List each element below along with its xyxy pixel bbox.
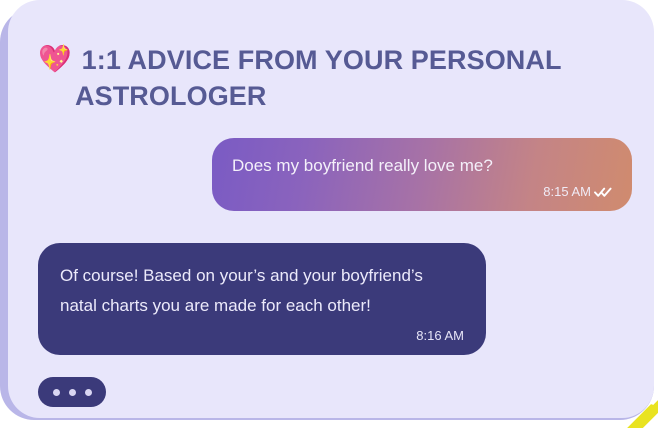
page-title: 1:1 ADVICE FROM YOUR PERSONAL xyxy=(82,42,562,78)
message-bubble-incoming[interactable]: Of course! Based on your’s and your boyf… xyxy=(38,243,486,355)
typing-dot-2 xyxy=(69,389,76,396)
message-bubble-outgoing[interactable]: Does my boyfriend really love me? 8:15 A… xyxy=(212,138,632,211)
chat-thread: Does my boyfriend really love me? 8:15 A… xyxy=(38,138,632,407)
message-row-outgoing: Does my boyfriend really love me? 8:15 A… xyxy=(38,138,632,211)
message-meta: 8:15 AM xyxy=(232,183,612,201)
typing-dot-1 xyxy=(53,389,60,396)
message-timestamp: 8:16 AM xyxy=(416,327,464,345)
double-check-icon xyxy=(594,186,612,198)
title-line-primary: 💖 1:1 ADVICE FROM YOUR PERSONAL xyxy=(38,42,614,78)
page-title-second-line: ASTROLOGER xyxy=(75,78,614,114)
typing-indicator xyxy=(38,377,106,407)
message-timestamp: 8:15 AM xyxy=(543,183,591,201)
chat-promo-card: 💖 1:1 ADVICE FROM YOUR PERSONAL ASTROLOG… xyxy=(8,0,654,418)
card-header: 💖 1:1 ADVICE FROM YOUR PERSONAL ASTROLOG… xyxy=(38,42,614,114)
typing-dot-3 xyxy=(85,389,92,396)
typing-indicator-row xyxy=(38,377,632,407)
sparkling-heart-icon: 💖 xyxy=(38,42,72,76)
message-text: Does my boyfriend really love me? xyxy=(232,154,612,177)
message-meta: 8:16 AM xyxy=(60,327,464,345)
screenshot-stage: 💖 1:1 ADVICE FROM YOUR PERSONAL ASTROLOG… xyxy=(0,0,660,428)
message-text: Of course! Based on your’s and your boyf… xyxy=(60,261,464,321)
message-row-incoming: Of course! Based on your’s and your boyf… xyxy=(38,211,632,355)
